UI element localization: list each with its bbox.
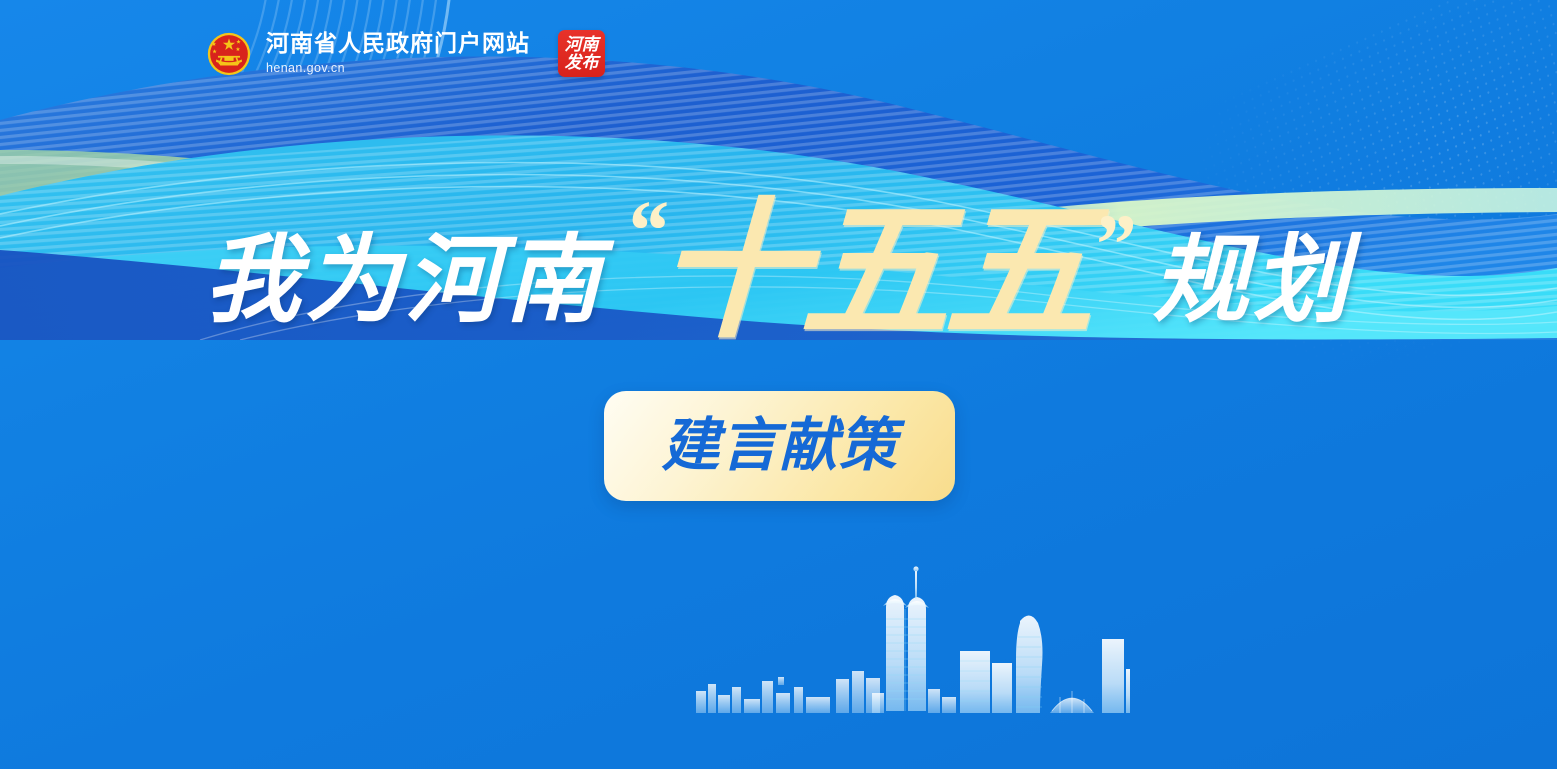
headline-calligraphy-text: 十五五 — [655, 202, 1092, 340]
open-quote-mark: “ — [624, 200, 661, 262]
headline-left-text: 我为河南 — [204, 233, 604, 329]
zhengzhou-skyline-decoration — [690, 551, 1130, 721]
badge-line-1: 河南 — [565, 36, 599, 53]
hero-headline: 我为河南 “ 十五五 ” 规划 — [0, 196, 1557, 366]
cta-label: 建言献策 — [661, 417, 897, 475]
close-quote-mark: ” — [1092, 214, 1129, 276]
badge-line-2: 发布 — [565, 54, 599, 71]
site-header[interactable]: 河南省人民政府门户网站 henan.gov.cn 河南 发布 — [206, 30, 605, 77]
site-url: henan.gov.cn — [266, 61, 530, 76]
suggestion-cta-button[interactable]: 建言献策 — [604, 391, 955, 501]
henan-government-campaign-banner: 河南省人民政府门户网站 henan.gov.cn 河南 发布 我为河南 “ 十五… — [0, 0, 1557, 769]
quoted-calligraphy-group: “ 十五五 ” — [618, 198, 1134, 336]
national-emblem-icon — [206, 31, 252, 77]
headline-right-text: 规划 — [1153, 233, 1353, 329]
site-identity: 河南省人民政府门户网站 henan.gov.cn — [266, 31, 530, 75]
henan-release-badge[interactable]: 河南 发布 — [558, 30, 605, 77]
site-title: 河南省人民政府门户网站 — [266, 31, 530, 56]
